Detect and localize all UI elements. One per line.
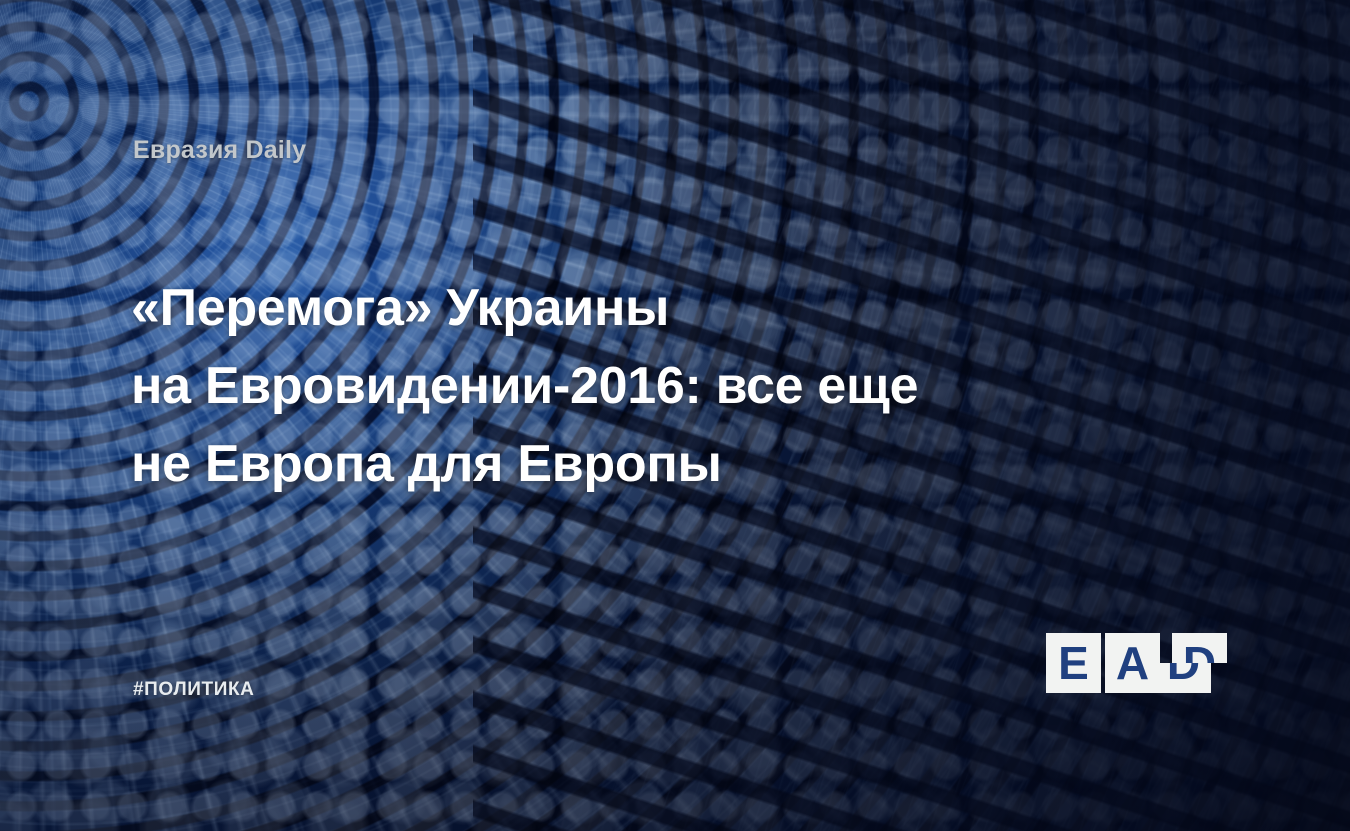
headline-line-2: на Евровидении-2016: все еще: [131, 347, 1011, 425]
headline-line-1: «Перемога» Украины: [131, 269, 1011, 347]
logo-tile-d: D D: [1164, 633, 1219, 693]
page-title: «Перемога» Украины на Евровидении-2016: …: [131, 269, 1011, 503]
logo-letter-d-lower: D: [1167, 663, 1200, 686]
logo-letter-d-upper: D: [1183, 640, 1216, 663]
logo-letter-d-bottom-half: D: [1156, 663, 1211, 693]
brand-name: Евразия Daily: [133, 136, 306, 165]
logo-tile-a: A: [1105, 633, 1160, 693]
category-tag[interactable]: #ПОЛИТИКА: [133, 679, 255, 701]
logo-letter-d-top-half: D: [1172, 633, 1227, 663]
logo-letter-a: A: [1116, 640, 1149, 686]
logo-letter-e: E: [1058, 640, 1089, 686]
eadaily-logo[interactable]: E A D D: [1046, 633, 1220, 693]
headline-line-3: не Европа для Европы: [131, 425, 1011, 503]
logo-tile-e: E: [1046, 633, 1101, 693]
article-cover-card: Евразия Daily «Перемога» Украины на Евро…: [0, 0, 1350, 831]
